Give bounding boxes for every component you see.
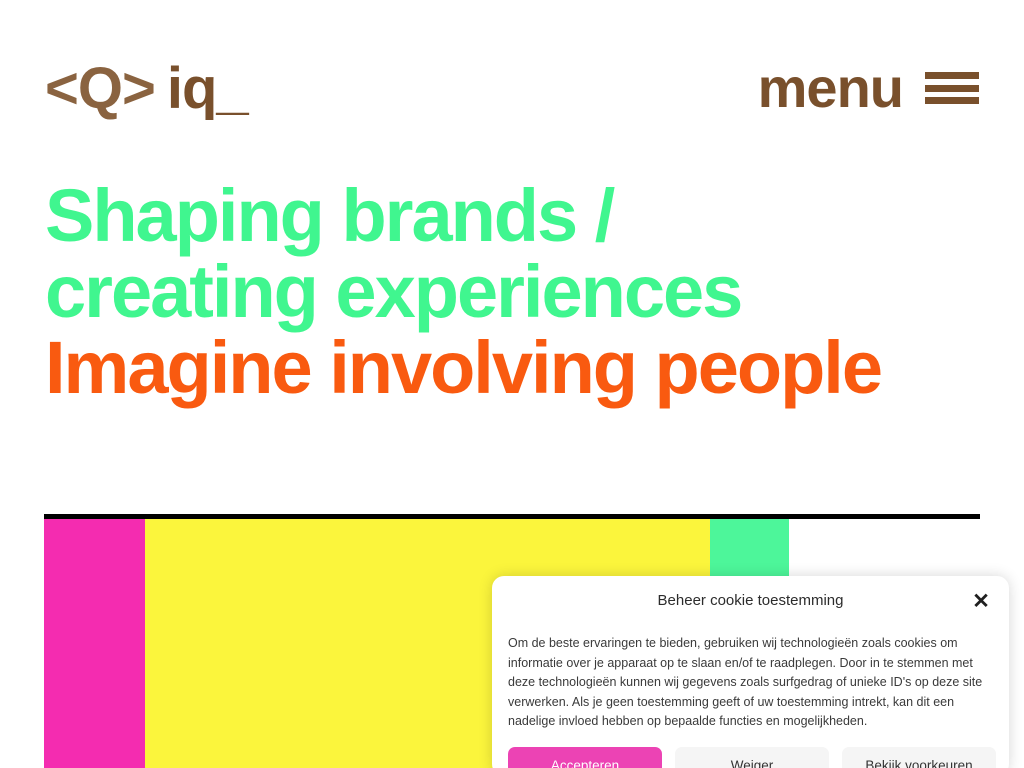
menu-button[interactable]: menu xyxy=(758,60,979,116)
cookie-preferences-button[interactable]: Bekijk voorkeuren xyxy=(842,747,996,768)
hamburger-bar-3 xyxy=(925,97,979,104)
logo-mark: <Q> xyxy=(45,56,155,121)
close-icon[interactable]: ✕ xyxy=(970,590,992,612)
deny-cookies-button[interactable]: Weiger xyxy=(675,747,829,768)
cookie-consent-dialog: Beheer cookie toestemming ✕ Om de beste … xyxy=(492,576,1009,768)
hero-headline: Shaping brands / creating experiences Im… xyxy=(45,178,985,406)
menu-label: menu xyxy=(758,60,903,116)
hero-line-1: Shaping brands / xyxy=(45,178,985,254)
hamburger-icon[interactable] xyxy=(925,70,979,106)
hamburger-bar-2 xyxy=(925,85,979,92)
cookie-dialog-title: Beheer cookie toestemming xyxy=(492,592,1009,609)
site-header: <Q>iq_ menu xyxy=(0,0,1024,150)
color-block-green xyxy=(710,519,789,578)
cookie-dialog-actions: Accepteren Weiger Bekijk voorkeuren xyxy=(508,747,996,768)
accept-cookies-button[interactable]: Accepteren xyxy=(508,747,662,768)
cookie-dialog-body: Om de beste ervaringen te bieden, gebrui… xyxy=(508,634,996,732)
hero-line-2: creating experiences xyxy=(45,254,985,330)
logo-word: iq_ xyxy=(167,56,248,121)
hamburger-bar-1 xyxy=(925,72,979,79)
page-root: <Q>iq_ menu Shaping brands / creating ex… xyxy=(0,0,1024,768)
hero-line-3: Imagine involving people xyxy=(45,330,985,406)
site-logo[interactable]: <Q>iq_ xyxy=(45,60,248,118)
color-block-magenta xyxy=(44,519,145,768)
